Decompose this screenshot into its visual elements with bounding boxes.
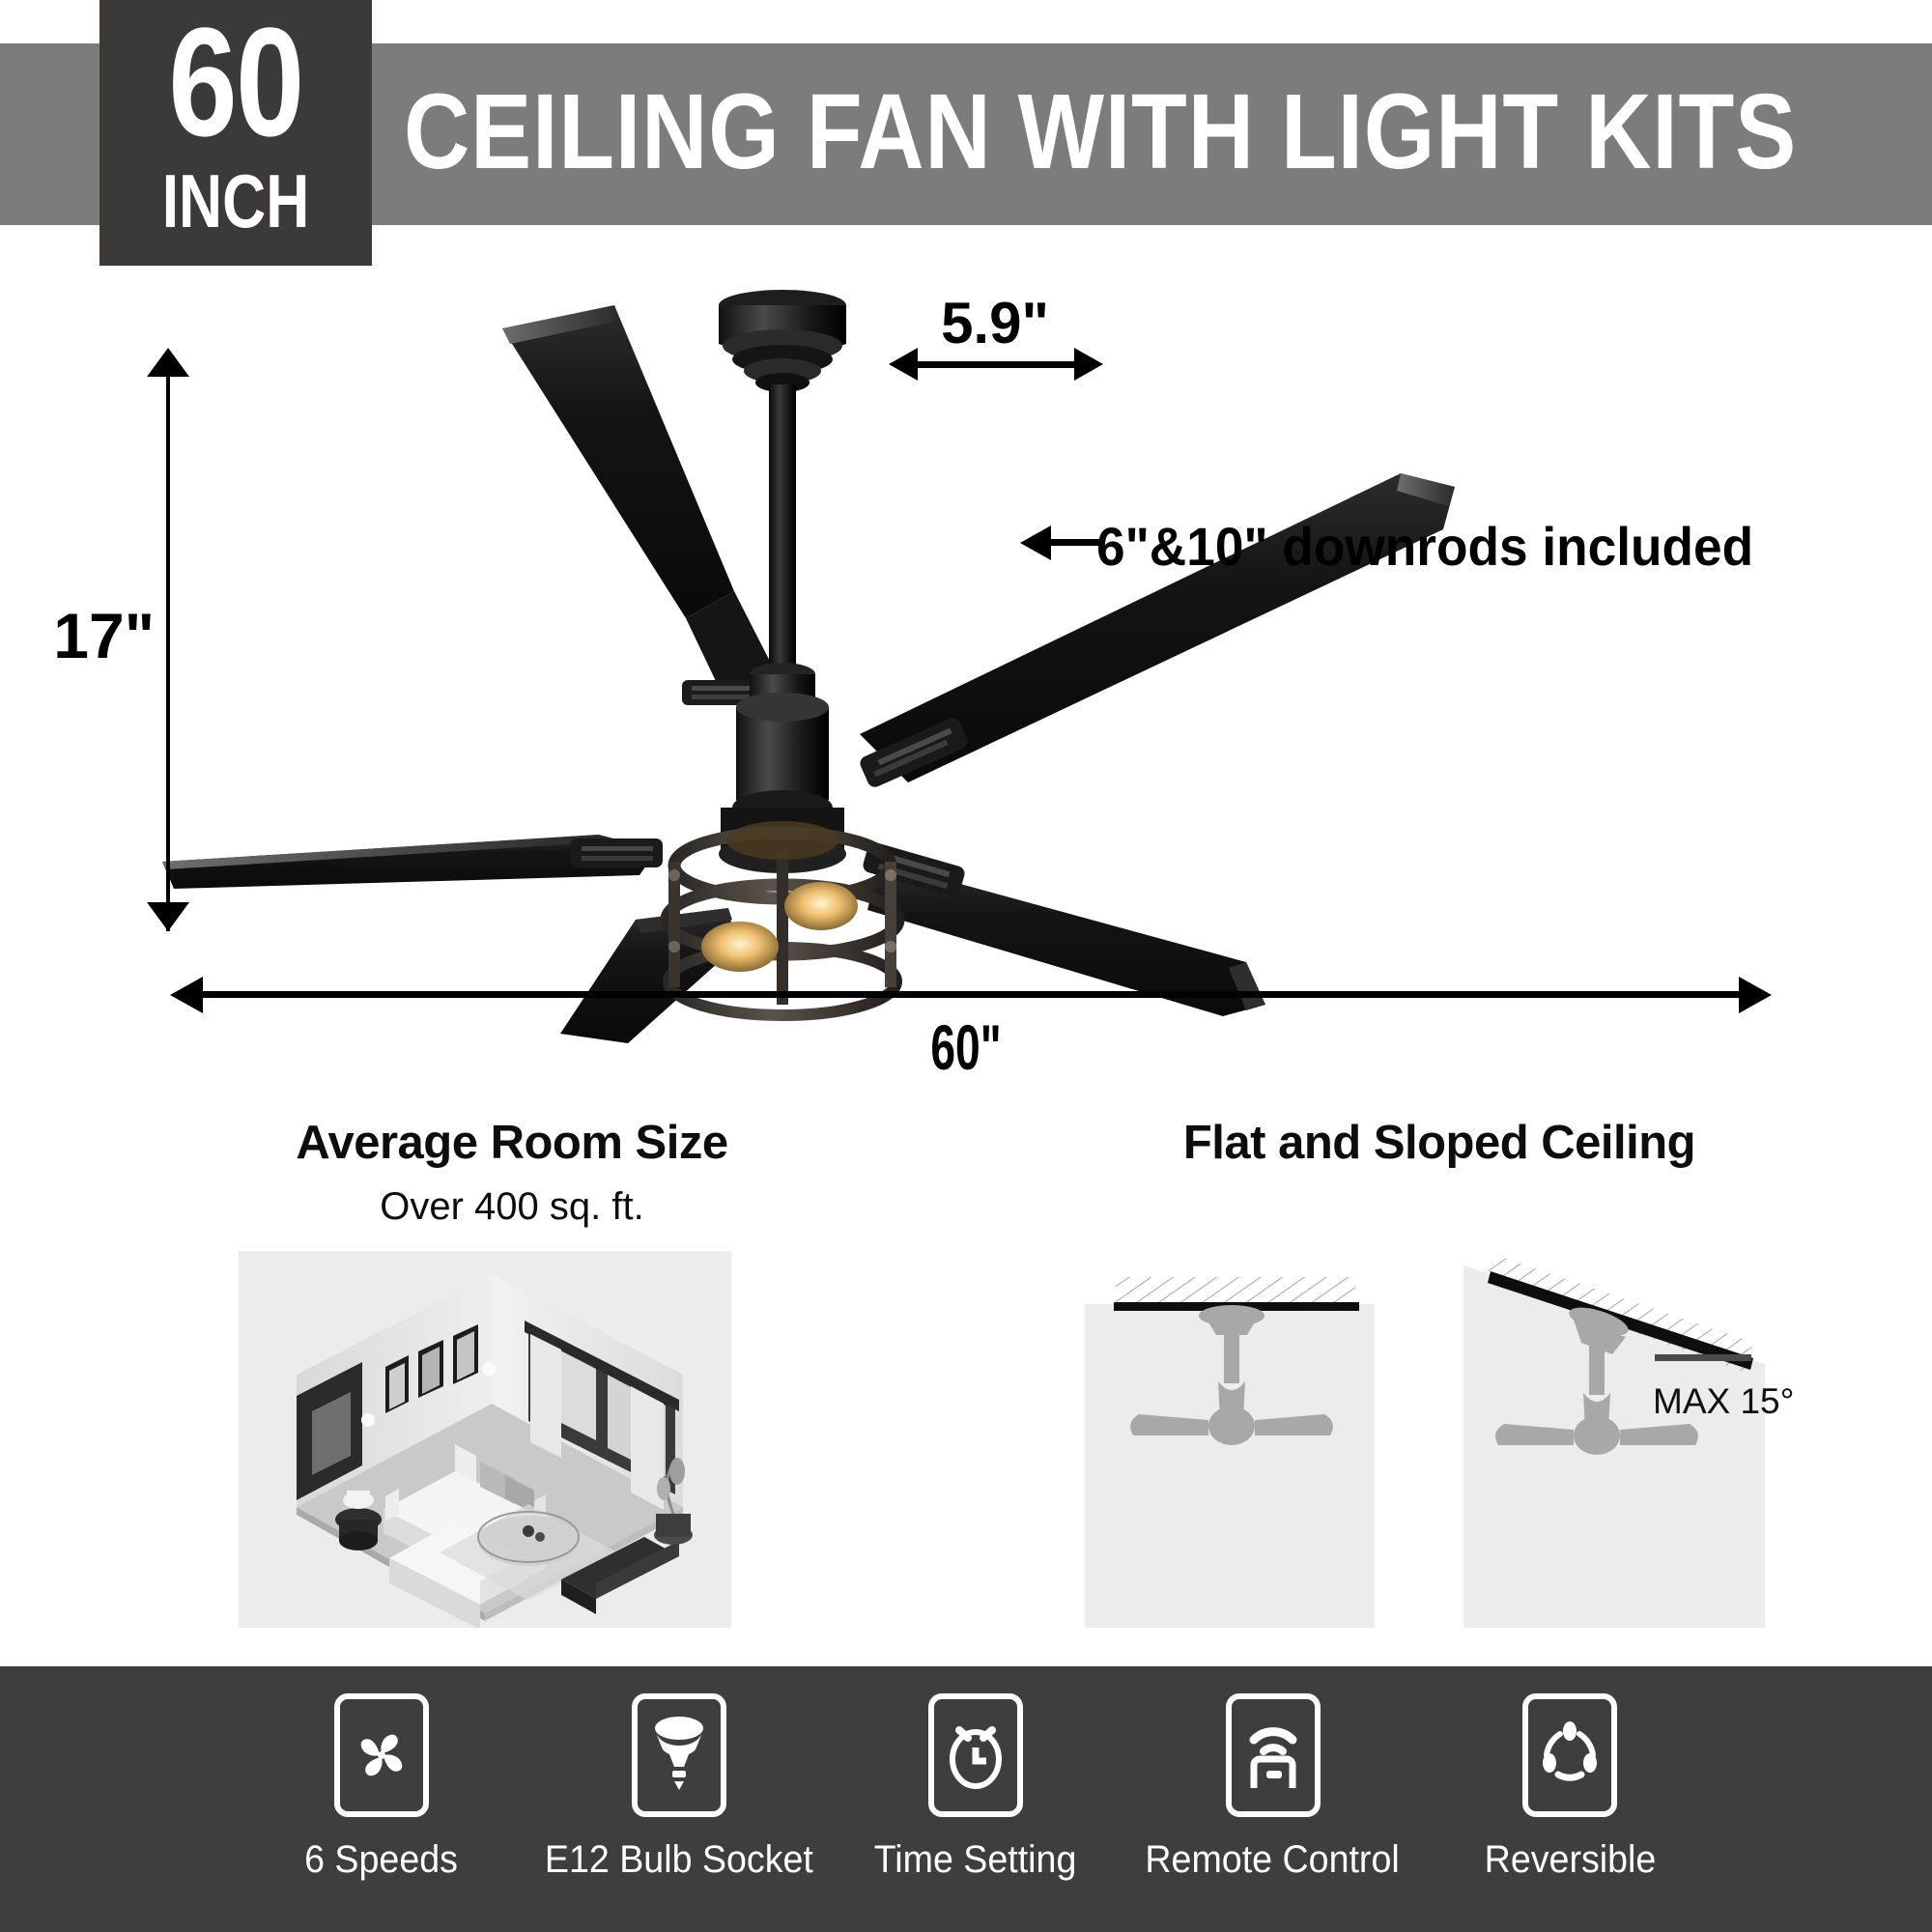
feature-item-speeds: 6 Speeds (241, 1693, 522, 1916)
feature-label: Reversible (1484, 1838, 1656, 1882)
height-dimension-label: 17" (48, 599, 155, 672)
feature-item-reversible: Reversible (1430, 1693, 1710, 1916)
width-dimension-label: 60" (898, 1010, 1034, 1084)
size-badge-number: 60 (127, 10, 345, 155)
canopy-dimension-label: 5.9" (869, 290, 1121, 356)
light-bulb-icon (632, 1693, 726, 1817)
feature-label: 6 Speeds (305, 1838, 459, 1882)
fan-downrod (769, 384, 796, 674)
fan-blade-right-lower (862, 840, 1265, 1016)
room-illustration (239, 1251, 731, 1628)
ceiling-diagrams: MAX 15° (1077, 1236, 1811, 1633)
remote-signal-icon (1226, 1693, 1321, 1817)
size-badge: 60 INCH (99, 0, 372, 266)
sloped-ceiling-diagram (1463, 1254, 1765, 1628)
downrod-note-label: 6"&10" downrods included (1096, 515, 1753, 578)
feature-item-timer: Time Setting (836, 1693, 1116, 1916)
reversible-rotation-icon (1522, 1693, 1617, 1817)
feature-bar: 6 Speeds E12 Bulb Socket (0, 1666, 1932, 1932)
feature-list: 6 Speeds E12 Bulb Socket (241, 1693, 1710, 1916)
fan-blade-lower (560, 908, 736, 1043)
light-bulb-upper (784, 882, 858, 930)
feature-label: E12 Bulb Socket (544, 1838, 812, 1882)
room-size-section: Average Room Size Over 400 sq. ft. (145, 1116, 879, 1229)
ceiling-section-title: Flat and Sloped Ceiling (1024, 1116, 1855, 1170)
arrow-left-icon (889, 348, 918, 381)
arrow-right-icon (1739, 977, 1772, 1013)
ceiling-section: Flat and Sloped Ceiling (1024, 1116, 1855, 1170)
light-bulb-lower (701, 922, 779, 972)
arrow-left-icon (170, 977, 203, 1013)
dimension-line-width (199, 991, 1745, 998)
page-title: CEILING FAN WITH LIGHT KITS (404, 60, 1797, 205)
feature-label: Time Setting (874, 1838, 1077, 1882)
fan-canopy (719, 290, 846, 392)
room-size-subtitle: Over 400 sq. ft. (145, 1185, 879, 1229)
fan-blades-icon (334, 1693, 429, 1817)
max-slope-label: MAX 15° (1653, 1381, 1794, 1422)
arrow-down-icon (147, 902, 189, 931)
ceiling-fan-illustration (145, 270, 1787, 1043)
product-infographic: 60 INCH CEILING FAN WITH LIGHT KITS (0, 0, 1932, 1932)
dimension-line-vertical (166, 369, 170, 931)
room-size-title: Average Room Size (145, 1116, 879, 1170)
feature-label: Remote Control (1146, 1838, 1400, 1882)
feature-item-remote: Remote Control (1133, 1693, 1413, 1916)
flat-ceiling-diagram (1085, 1277, 1375, 1628)
dimension-line-canopy (916, 361, 1074, 368)
size-badge-unit: INCH (127, 162, 345, 240)
alarm-clock-icon (928, 1693, 1023, 1817)
fan-blade-left (162, 835, 663, 889)
arrow-right-icon (1074, 348, 1103, 381)
feature-item-bulb: E12 Bulb Socket (539, 1693, 819, 1916)
